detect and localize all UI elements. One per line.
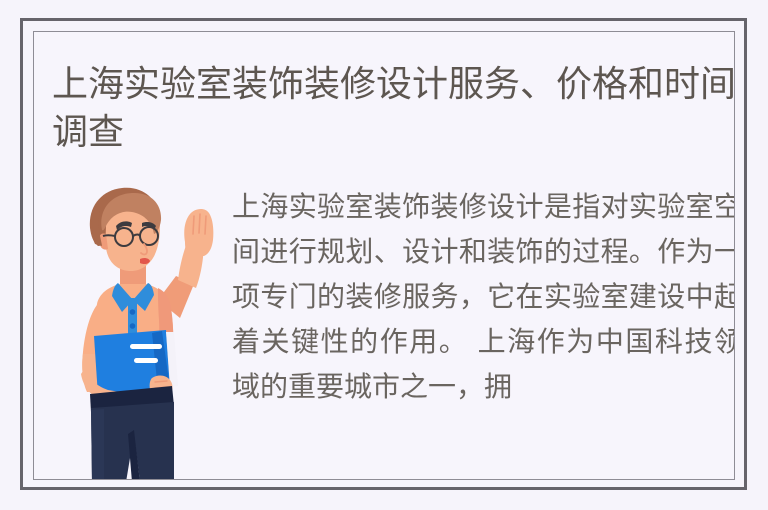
page-root: 上海实验室装饰装修设计服务、价格和时间调查 [0, 0, 768, 510]
card-inner-frame: 上海实验室装饰装修设计服务、价格和时间调查 [33, 31, 735, 480]
illustration-man-waving [54, 172, 224, 480]
illustration-svg [54, 172, 224, 480]
body-paragraph: 上海实验室装饰装修设计是指对实验室空间进行规划、设计和装饰的过程。作为一项专门的… [232, 184, 735, 409]
card-outer-frame: 上海实验室装饰装修设计服务、价格和时间调查 [20, 18, 747, 490]
page-title: 上海实验室装饰装修设计服务、价格和时间调查 [52, 60, 735, 156]
